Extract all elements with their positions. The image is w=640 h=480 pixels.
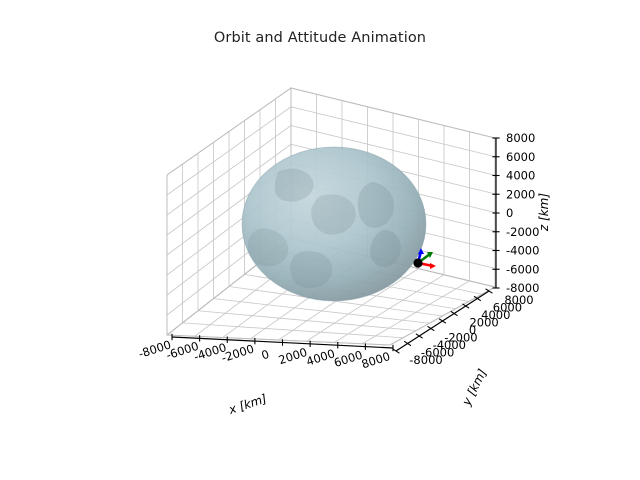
z-tick-label: 0 [506,206,513,220]
y-axis-label: y [km] [459,366,490,408]
z-tick-label: -6000 [506,262,539,276]
z-tick-label: -4000 [506,244,539,258]
earth-sphere [242,147,426,301]
z-tick-label: -8000 [506,281,539,295]
x-axis-label: x [km] [226,391,269,417]
z-tick-label: 2000 [506,187,535,201]
axes-3d: -8000-6000-4000-200002000400060008000 80… [0,0,640,480]
z-tick-label: 6000 [506,150,535,164]
z-tick-label: 4000 [506,169,535,183]
satellite-marker [413,258,422,267]
z-tick-label: 8000 [506,131,535,145]
x-tick-label: 0 [260,347,271,363]
z-axis: 80006000400020000-2000-4000-6000-8000 [492,131,539,295]
z-tick-label: -2000 [506,225,539,239]
x-tick-label: 8000 [360,349,392,371]
z-axis-label: z [km] [537,193,551,232]
matplotlib-figure: Orbit and Attitude Animation [0,0,640,480]
y-tick-label: -8000 [409,353,442,367]
